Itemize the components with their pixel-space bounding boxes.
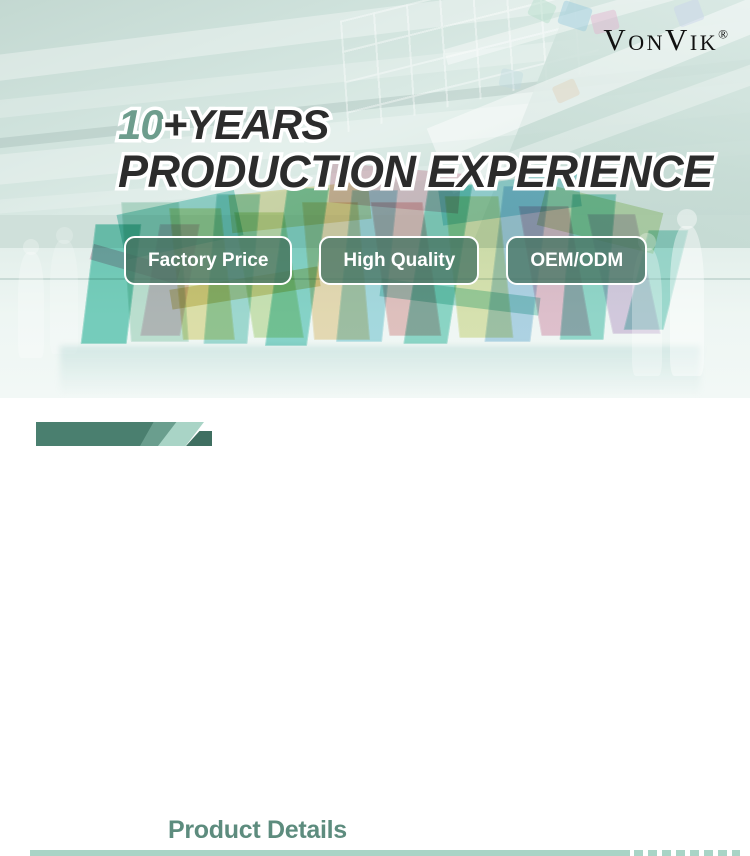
person-silhouette bbox=[670, 226, 704, 376]
registered-trademark-icon: ® bbox=[718, 27, 728, 42]
headline-line-1: 10 +YEARS bbox=[118, 104, 713, 146]
badge-oem-odm[interactable]: OEM/ODM bbox=[506, 236, 647, 285]
feature-badge-list: Factory Price High Quality OEM/ODM bbox=[124, 236, 647, 285]
badge-factory-price[interactable]: Factory Price bbox=[124, 236, 292, 285]
section-title: Product Details bbox=[168, 816, 347, 845]
accent-bar-dark bbox=[36, 422, 156, 446]
headline-line-2: PRODUCTION EXPERIENCE bbox=[118, 149, 713, 194]
section-header-footer: Product Details bbox=[0, 398, 750, 468]
brand-logo: VonVik® bbox=[603, 22, 728, 58]
badge-high-quality[interactable]: High Quality bbox=[319, 236, 479, 285]
hero-banner: VonVik® 10 +YEARS PRODUCTION EXPERIENCE … bbox=[0, 0, 750, 398]
headline-plus-years: +YEARS bbox=[163, 104, 329, 146]
headline-number: 10 bbox=[118, 104, 163, 146]
brand-logo-text: VonVik bbox=[603, 22, 718, 57]
floor-reflection bbox=[60, 346, 700, 396]
headline-block: 10 +YEARS PRODUCTION EXPERIENCE bbox=[118, 104, 713, 194]
underline-dashes bbox=[634, 850, 740, 856]
room-background bbox=[0, 0, 750, 398]
underline-bar bbox=[30, 850, 630, 856]
